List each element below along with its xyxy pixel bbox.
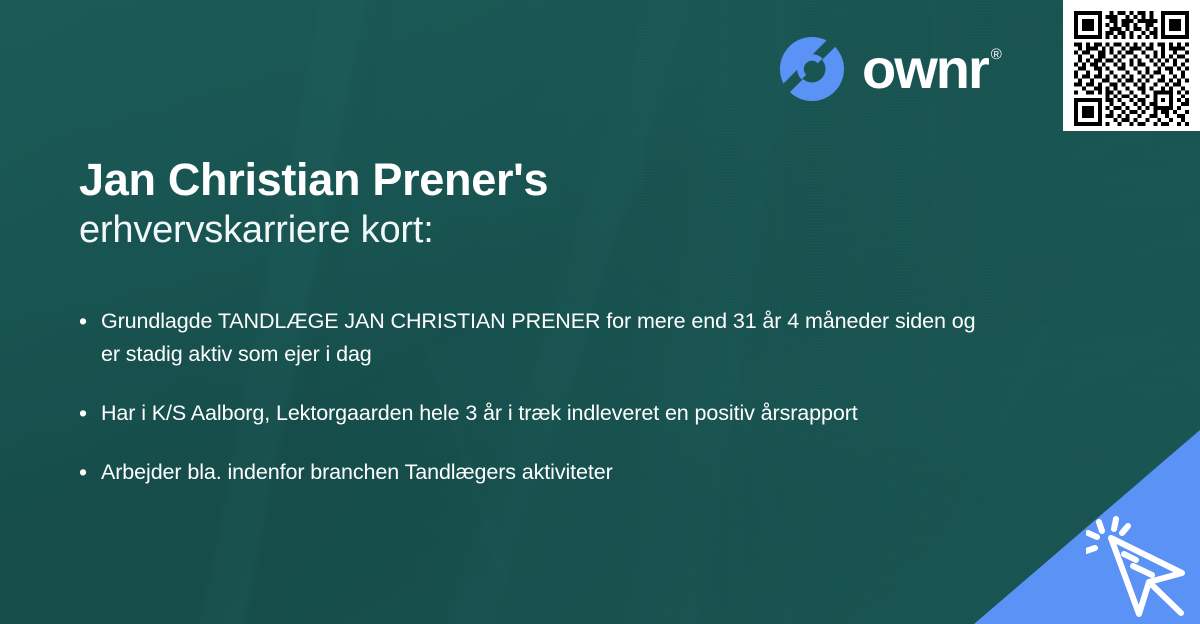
ownr-circle-swirl-logo [778, 35, 846, 103]
bullet-point-icon: • [79, 397, 101, 430]
ownr-logo-text: ownr [862, 41, 988, 97]
click-cursor-icon [1086, 516, 1194, 620]
list-item: • Grundlagde TANDLÆGE JAN CHRISTIAN PREN… [79, 305, 979, 371]
registered-trademark-icon: ® [991, 47, 1002, 62]
ownr-wordmark: ownr ® [862, 41, 1002, 97]
title-line-secondary: erhvervskarriere kort: [79, 207, 548, 253]
list-item-text: Har i K/S Aalborg, Lektorgaarden hele 3 … [101, 397, 858, 430]
bullet-point-icon: • [79, 456, 101, 489]
ownr-logo[interactable]: ownr ® [778, 33, 1002, 105]
title-line-primary: Jan Christian Prener's [79, 155, 548, 205]
career-highlights-list: • Grundlagde TANDLÆGE JAN CHRISTIAN PREN… [79, 305, 979, 515]
ownr-business-card-banner: ownr ® Jan Christian Prener's erhvervska… [0, 0, 1200, 624]
qr-code-panel[interactable] [1063, 0, 1200, 131]
list-item-text: Arbejder bla. indenfor branchen Tandlæge… [101, 456, 613, 489]
list-item-text: Grundlagde TANDLÆGE JAN CHRISTIAN PRENER… [101, 305, 979, 371]
qr-code[interactable] [1074, 11, 1189, 126]
list-item: • Arbejder bla. indenfor branchen Tandlæ… [79, 456, 979, 489]
list-item: • Har i K/S Aalborg, Lektorgaarden hele … [79, 397, 979, 430]
page-title: Jan Christian Prener's erhvervskarriere … [79, 155, 548, 254]
bullet-point-icon: • [79, 305, 101, 371]
